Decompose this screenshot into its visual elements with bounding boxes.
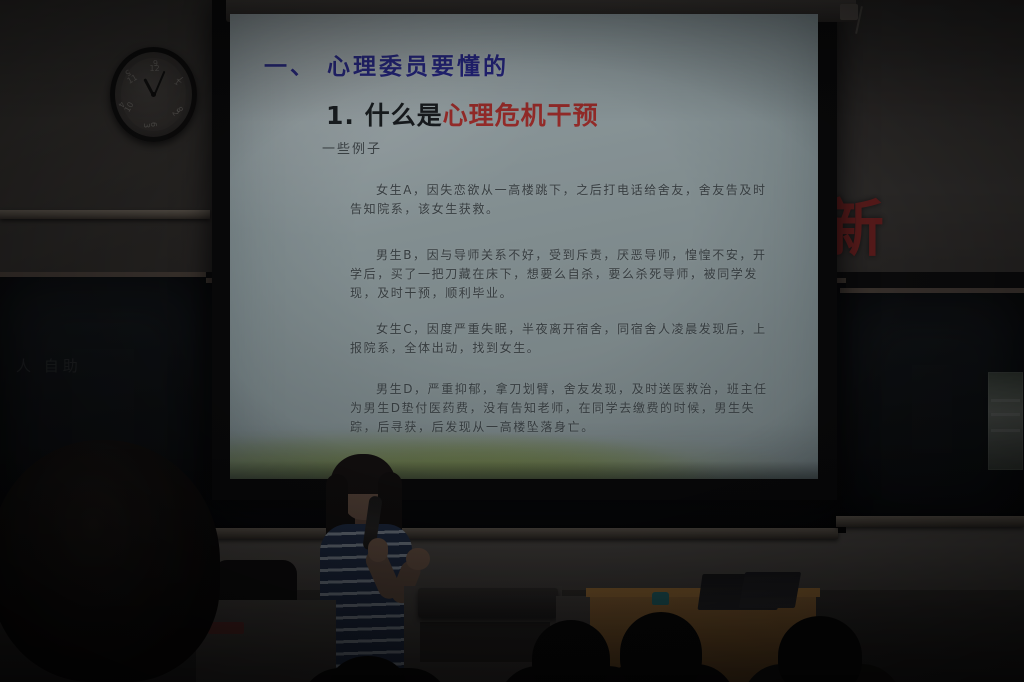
slide-subheading-red: 心理危机干预: [443, 101, 599, 130]
screen-mount-bracket: [840, 4, 858, 20]
cabinet-label: [208, 622, 244, 634]
poster-line: [991, 399, 1020, 402]
clock-center-pin: [151, 92, 156, 97]
slide-paragraph-c: 女生C，因度严重失眠，半夜离开宿舍，同宿舍人凌晨发现后，上报院系，全体出动，找到…: [350, 320, 780, 358]
clock-face: 12 1 2 3 4 5 6 7 8 9 10 11: [121, 58, 186, 131]
projector-shelf: [420, 622, 550, 662]
poster-line: [991, 413, 1020, 416]
presenter-hand-right: [406, 548, 430, 570]
slide-paragraph-a: 女生A，因失恋欲从一高楼跳下，之后打电话给舍友，舍友告及时告知院系，该女生获救。: [350, 181, 780, 219]
chalk-text: 人 自助: [16, 355, 82, 376]
slide-subheading-black: 1. 什么是: [326, 101, 443, 130]
foreground-head-silhouette: [0, 440, 220, 682]
clock-numeral: 10: [122, 100, 135, 113]
clock-numeral: 9: [150, 121, 159, 126]
presentation-slide: 一、 心理委员要懂的 1. 什么是心理危机干预 一些例子 女生A，因失恋欲从一高…: [230, 14, 818, 479]
wall-rail-left: [0, 210, 210, 219]
clock-numeral: 7: [176, 73, 185, 83]
clock-numeral: 6: [152, 58, 157, 67]
slide-heading: 一、 心理委员要懂的: [264, 47, 509, 81]
wall-clock: 12 1 2 3 4 5 6 7 8 9 10 11: [110, 47, 197, 142]
cup: [652, 592, 669, 605]
lecture-hall-photo: 新 12 1 2 3 4 5 6 7 8 9 10 11 人 自助: [0, 0, 1024, 682]
slide-paragraph-b: 男生B，因与导师关系不好，受到斥责，厌恶导师，惶惶不安，开学后，买了一把刀藏在床…: [350, 246, 780, 303]
notice-poster: [988, 372, 1023, 470]
chalk-tray-right: [836, 516, 1024, 527]
poster-line: [991, 429, 1020, 432]
slide-subheading: 1. 什么是心理危机干预: [326, 96, 599, 132]
chalk-tray-center: [198, 528, 838, 539]
clock-numeral: 8: [174, 104, 184, 113]
overhead-projector: [418, 588, 558, 618]
laptop-screen-secondary: [739, 572, 801, 608]
presenter-hand-left: [368, 538, 388, 562]
slide-examples-label: 一些例子: [322, 138, 382, 157]
upper-wall-left: [0, 0, 240, 272]
equipment-cabinet: [196, 600, 336, 682]
